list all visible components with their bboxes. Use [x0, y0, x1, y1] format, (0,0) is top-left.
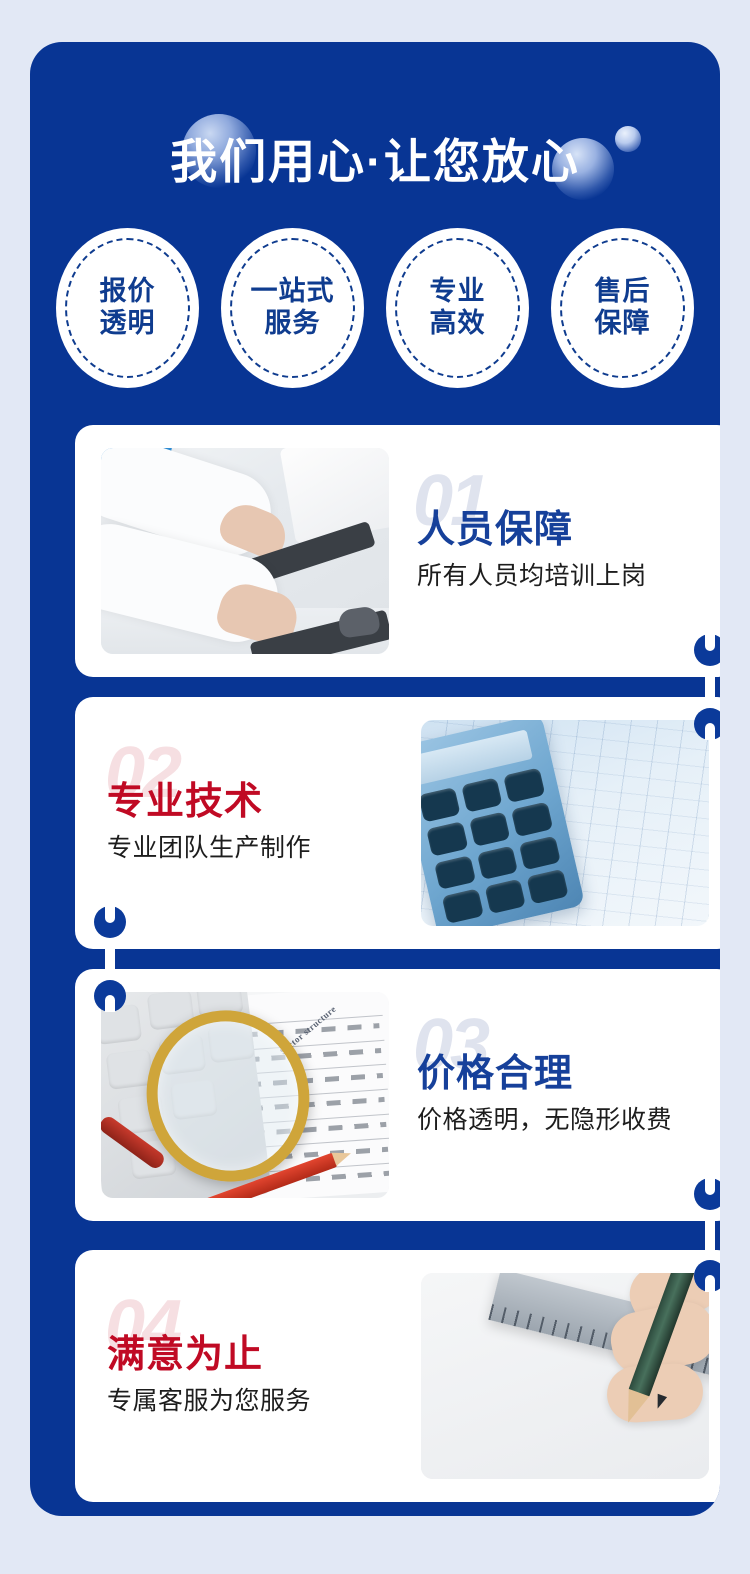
badge-line-2: 保障 [595, 308, 651, 338]
connector-card3-to-card4 [705, 1194, 715, 1276]
page-title: 我们用心·让您放心 [30, 138, 720, 185]
connector-card2-to-card3 [105, 922, 115, 996]
badge-label: 专业 高效 [430, 276, 486, 340]
card-subtitle: 所有人员均培训上岗 [417, 561, 713, 591]
badge-line-2: 高效 [430, 308, 486, 338]
feature-card-personnel[interactable]: 01 人员保障 所有人员均培训上岗 [75, 425, 720, 677]
feature-card-satisfaction[interactable]: 04 满意为止 专属客服为您服务 [75, 1250, 720, 1502]
card-title: 专业技术 [107, 783, 393, 823]
card-title: 满意为止 [107, 1336, 393, 1376]
badge-professional-efficient[interactable]: 专业 高效 [386, 228, 529, 388]
badge-line-1: 专业 [430, 276, 486, 306]
photo-office-workers-typing [101, 448, 389, 654]
photo-hand-ruler-pencil [421, 1273, 709, 1479]
photo-magnifier-over-table: Sector structure [101, 992, 389, 1198]
connector-dot-icon [694, 708, 720, 740]
badge-line-2: 服务 [265, 308, 321, 338]
feature-card-technology[interactable]: 02 专业技术 专业团队生产制作 [75, 697, 720, 949]
connector-dot-icon [694, 634, 720, 666]
badge-label: 一站式 服务 [251, 276, 335, 340]
card-subtitle: 价格透明，无隐形收费 [417, 1105, 713, 1135]
badge-one-stop-service[interactable]: 一站式 服务 [221, 228, 364, 388]
badge-quote-transparency[interactable]: 报价 透明 [56, 228, 199, 388]
badge-line-1: 报价 [100, 276, 156, 306]
connector-card1-to-card2 [705, 650, 715, 724]
badge-label: 售后 保障 [595, 276, 651, 340]
promo-panel: 我们用心·让您放心 报价 透明 一站式 服务 专业 高效 售后 保障 [30, 42, 720, 1516]
card-subtitle: 专业团队生产制作 [107, 833, 393, 863]
card-title: 人员保障 [417, 511, 713, 551]
badge-after-sales-guarantee[interactable]: 售后 保障 [551, 228, 694, 388]
card-title: 价格合理 [417, 1055, 713, 1095]
badge-line-2: 透明 [100, 308, 156, 338]
connector-dot-icon [694, 1178, 720, 1210]
photo-calculator-spreadsheet [421, 720, 709, 926]
badge-line-1: 一站式 [251, 276, 335, 306]
connector-dot-icon [94, 906, 126, 938]
connector-dot-icon [694, 1260, 720, 1292]
card-subtitle: 专属客服为您服务 [107, 1386, 393, 1416]
feature-card-pricing[interactable]: Sector structure 03 价格合理 [75, 969, 720, 1221]
badge-label: 报价 透明 [100, 276, 156, 340]
badge-row: 报价 透明 一站式 服务 专业 高效 售后 保障 [56, 228, 694, 388]
badge-line-1: 售后 [595, 276, 651, 306]
connector-dot-icon [94, 980, 126, 1012]
